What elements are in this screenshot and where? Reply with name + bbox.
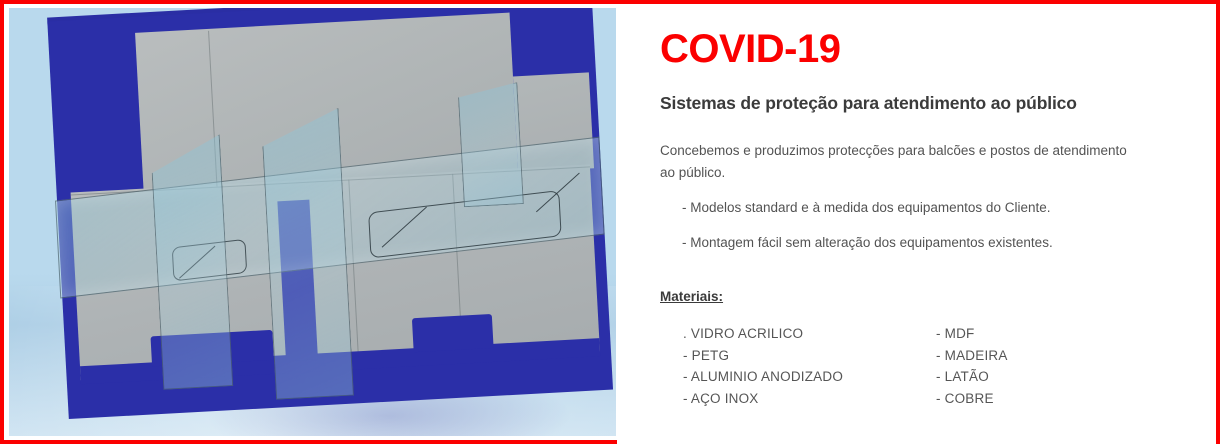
product-render-image: [9, 8, 616, 436]
list-item: - ALUMINIO ANODIZADO: [683, 366, 928, 388]
list-item: - LATÃO: [936, 366, 1136, 388]
list-item: - COBRE: [936, 388, 1136, 410]
list-item: - Modelos standard e à medida dos equipa…: [660, 200, 1160, 215]
acrylic-divider-right: [457, 82, 524, 207]
intro-paragraph: Concebemos e produzimos protecções para …: [660, 140, 1130, 184]
page-subtitle: Sistemas de proteção para atendimento ao…: [660, 93, 1077, 114]
list-item: - MDF: [936, 323, 1136, 345]
acrylic-divider-left: [150, 134, 234, 389]
materials-column-left: . VIDRO ACRILICO - PETG - ALUMINIO ANODI…: [660, 323, 928, 409]
materials-column-right: - MDF - MADEIRA - LATÃO - COBRE: [928, 323, 1136, 409]
materials-columns: . VIDRO ACRILICO - PETG - ALUMINIO ANODI…: [660, 323, 1136, 409]
toe-kick-notch-right: [412, 314, 494, 352]
page-title: COVID-19: [660, 27, 841, 72]
list-item: . VIDRO ACRILICO: [683, 323, 928, 345]
slide-frame: COVID-19 Sistemas de proteção para atend…: [0, 0, 1220, 444]
list-item: - AÇO INOX: [683, 388, 928, 410]
list-item: - MADEIRA: [936, 345, 1136, 367]
text-panel: COVID-19 Sistemas de proteção para atend…: [617, 8, 1216, 444]
acrylic-divider-center: [261, 108, 354, 400]
list-item: - PETG: [683, 345, 928, 367]
materials-heading: Materiais:: [660, 289, 723, 304]
list-item: - Montagem fácil sem alteração dos equip…: [660, 235, 1160, 250]
feature-bullet-list: - Modelos standard e à medida dos equipa…: [660, 200, 1160, 270]
counter-assembly: [39, 8, 616, 435]
